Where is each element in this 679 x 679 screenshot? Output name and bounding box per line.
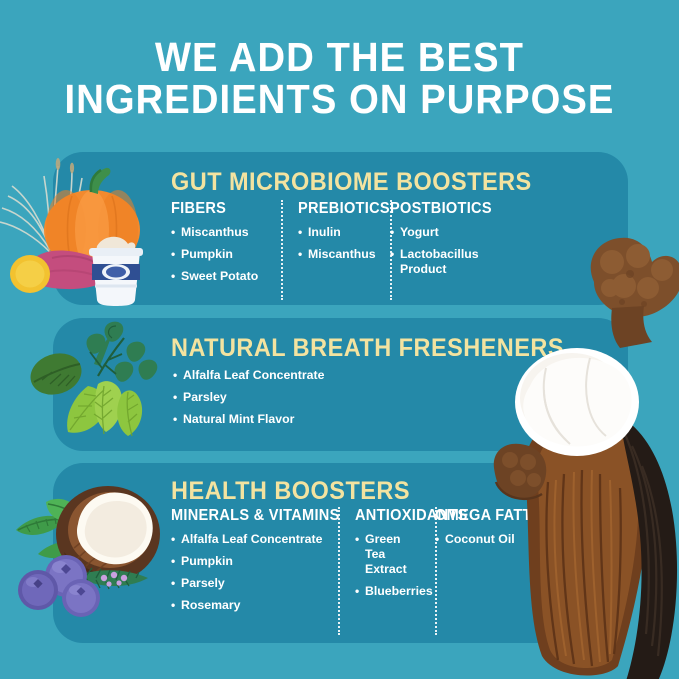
column-antioxidants: ANTIOXIDANTS Green Tea Extract Blueberri… <box>338 507 418 620</box>
list-item: Green Tea Extract <box>355 532 418 577</box>
column-minerals-vitamins: MINERALS & VITAMINS Alfalfa Leaf Concent… <box>171 507 338 620</box>
card-health-boosters: HEALTH BOOSTERS MINERALS & VITAMINS Alfa… <box>53 463 628 643</box>
list-item: Parsley <box>173 390 324 405</box>
column-heading-postbiotics: POSTBIOTICS <box>390 200 487 218</box>
bullet-list-minerals-vitamins: Alfalfa Leaf Concentrate Pumpkin Parsely… <box>171 532 338 613</box>
list-item: Miscanthus <box>298 247 373 262</box>
card-title-breath: NATURAL BREATH FRESHENERS <box>171 334 564 363</box>
column-heading-minerals-vitamins: MINERALS & VITAMINS <box>171 507 328 525</box>
bullet-list-postbiotics: Yogurt Lactobacillus Product <box>390 225 493 277</box>
list-item: Sweet Potato <box>171 269 281 284</box>
list-item: Yogurt <box>390 225 493 240</box>
list-item: Pumpkin <box>171 554 338 569</box>
card-gut-microbiome-boosters: GUT MICROBIOME BOOSTERS FIBERS Miscanthu… <box>53 152 628 305</box>
bullet-list-breath: Alfalfa Leaf Concentrate Parsley Natural… <box>173 368 324 434</box>
column-heading-antioxidants: ANTIOXIDANTS <box>355 507 414 525</box>
column-prebiotics: PREBIOTICS Inulin Miscanthus <box>281 200 373 291</box>
page-title-line-2: INGREDIENTS ON PURPOSE <box>24 78 655 120</box>
column-omega-fatty-acids: OMEGA FATTY ACIDS Coconut Oil <box>418 507 568 620</box>
list-item: Alfalfa Leaf Concentrate <box>171 532 338 547</box>
health-columns: MINERALS & VITAMINS Alfalfa Leaf Concent… <box>171 507 568 620</box>
card-title-gut: GUT MICROBIOME BOOSTERS <box>171 168 532 197</box>
column-heading-omega-fatty-acids: OMEGA FATTY ACIDS <box>435 507 560 525</box>
bullet-list-antioxidants: Green Tea Extract Blueberries <box>355 532 418 599</box>
list-item: Pumpkin <box>171 247 281 262</box>
list-item: Inulin <box>298 225 373 240</box>
column-divider <box>435 507 437 635</box>
page-title: WE ADD THE BEST INGREDIENTS ON PURPOSE <box>24 36 655 120</box>
card-title-health: HEALTH BOOSTERS <box>171 477 410 506</box>
list-item: Lactobacillus Product <box>390 247 493 277</box>
page-title-line-1: WE ADD THE BEST <box>24 36 655 78</box>
column-divider <box>390 200 392 300</box>
list-item: Alfalfa Leaf Concentrate <box>173 368 324 383</box>
card-natural-breath-fresheners: NATURAL BREATH FRESHENERS Alfalfa Leaf C… <box>53 318 628 451</box>
infographic-poster: WE ADD THE BEST INGREDIENTS ON PURPOSE G… <box>0 0 679 679</box>
list-item: Natural Mint Flavor <box>173 412 324 427</box>
column-heading-fibers: FIBERS <box>171 200 274 218</box>
bullet-list-omega-fatty-acids: Coconut Oil <box>435 532 568 547</box>
column-heading-prebiotics: PREBIOTICS <box>298 200 369 218</box>
list-item: Blueberries <box>355 584 418 599</box>
bullet-list-prebiotics: Inulin Miscanthus <box>298 225 373 262</box>
bullet-list-fibers: Miscanthus Pumpkin Sweet Potato <box>171 225 281 284</box>
gut-columns: FIBERS Miscanthus Pumpkin Sweet Potato P… <box>171 200 493 291</box>
column-fibers: FIBERS Miscanthus Pumpkin Sweet Potato <box>171 200 281 291</box>
list-item: Parsely <box>171 576 338 591</box>
list-item: Coconut Oil <box>435 532 568 547</box>
list-item: Miscanthus <box>171 225 281 240</box>
list-item: Rosemary <box>171 598 338 613</box>
